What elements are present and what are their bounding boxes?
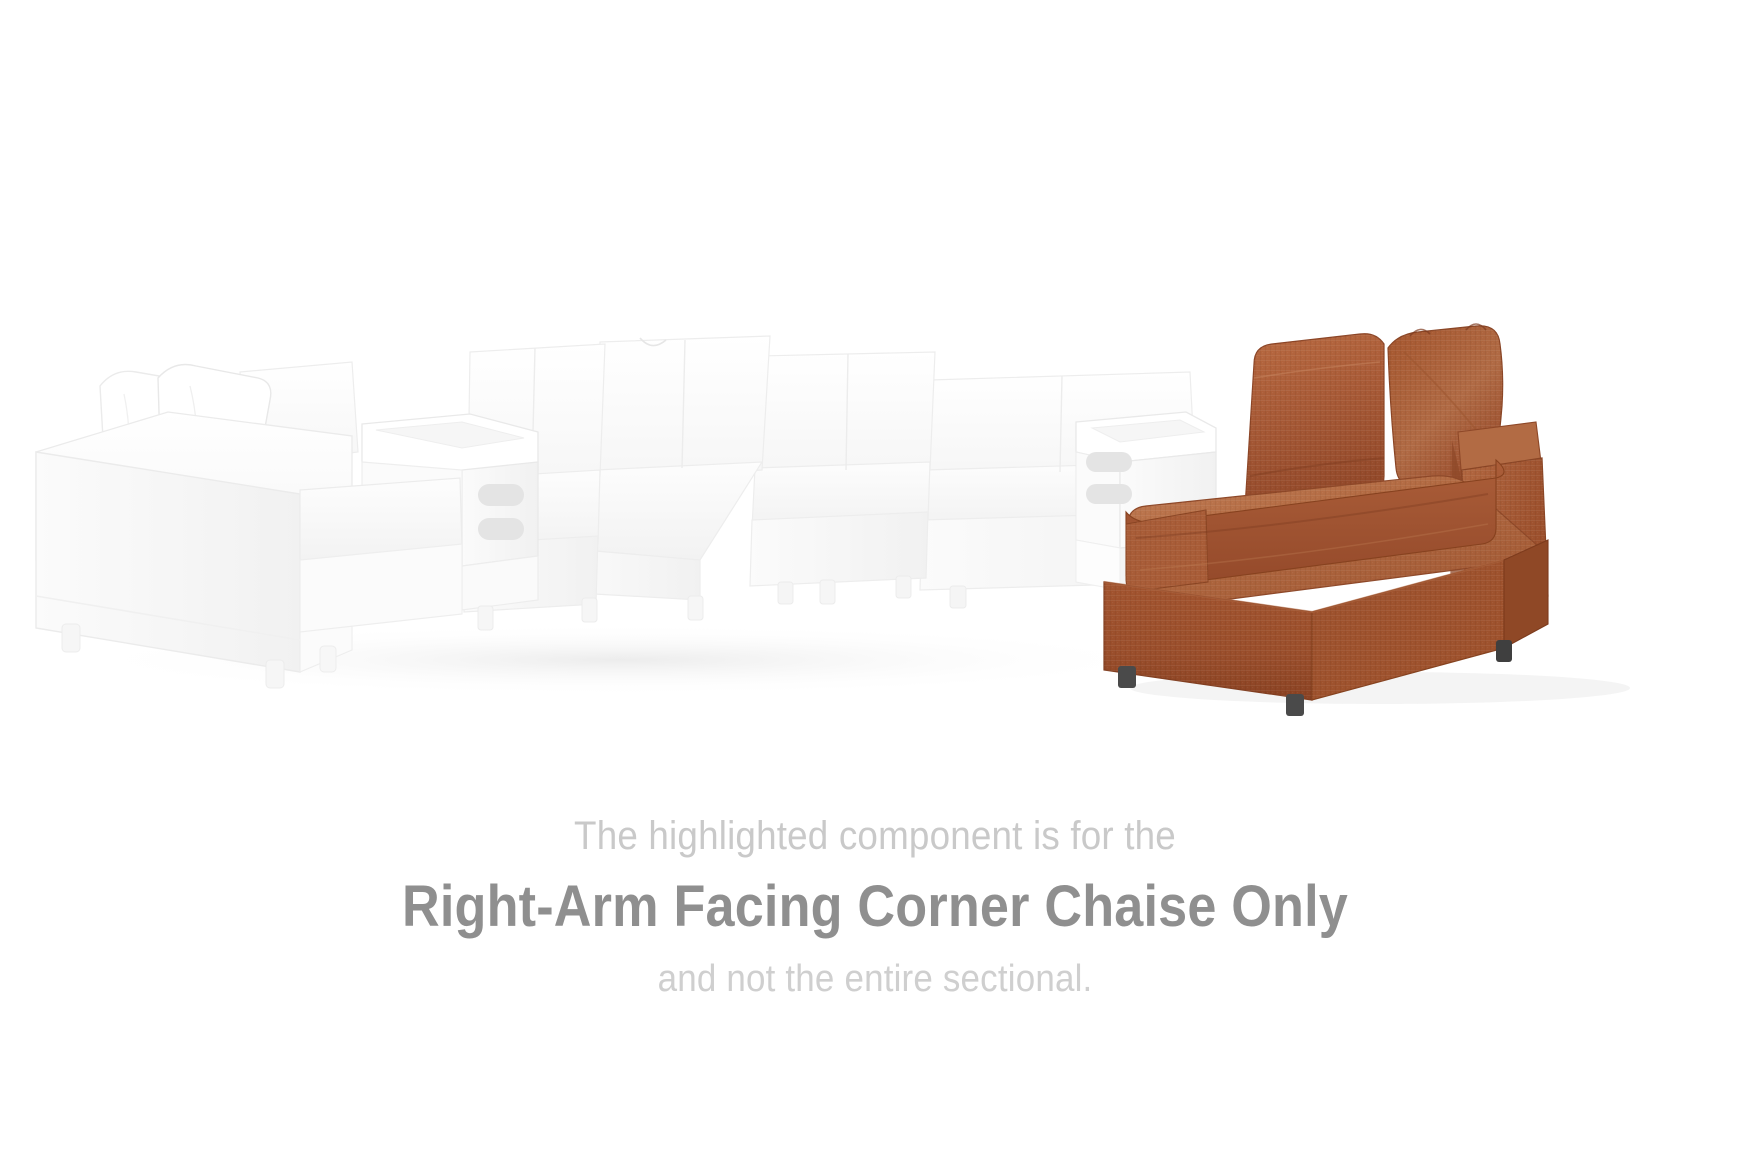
ghosted-sectional xyxy=(36,336,1216,696)
chaise-back-cushion xyxy=(1246,334,1384,508)
component-name-headline: Right-Arm Facing Corner Chaise Only xyxy=(88,875,1663,940)
chaise-leg xyxy=(1286,694,1304,716)
ghost-leg xyxy=(62,624,80,652)
console-left-side xyxy=(462,462,538,566)
cupholder-slot xyxy=(478,484,524,506)
caption-block: The highlighted component is for the Rig… xyxy=(0,815,1750,1000)
cupholder-slot xyxy=(1086,484,1132,504)
caption-line-3: and not the entire sectional. xyxy=(70,960,1680,1000)
chaise-leg xyxy=(1118,666,1136,688)
ghost-leg xyxy=(320,646,336,672)
ghost-module-armless-b xyxy=(750,352,935,604)
ghost-leg xyxy=(266,660,284,688)
sectional-illustration xyxy=(0,0,1750,790)
cupholder-slot xyxy=(1086,452,1132,472)
cupholder-slot xyxy=(478,518,524,540)
chaise-leg xyxy=(1496,640,1512,662)
screenshot-root: The highlighted component is for the Rig… xyxy=(0,0,1750,1167)
caption-line-1: The highlighted component is for the xyxy=(70,815,1680,857)
product-image xyxy=(0,0,1750,790)
